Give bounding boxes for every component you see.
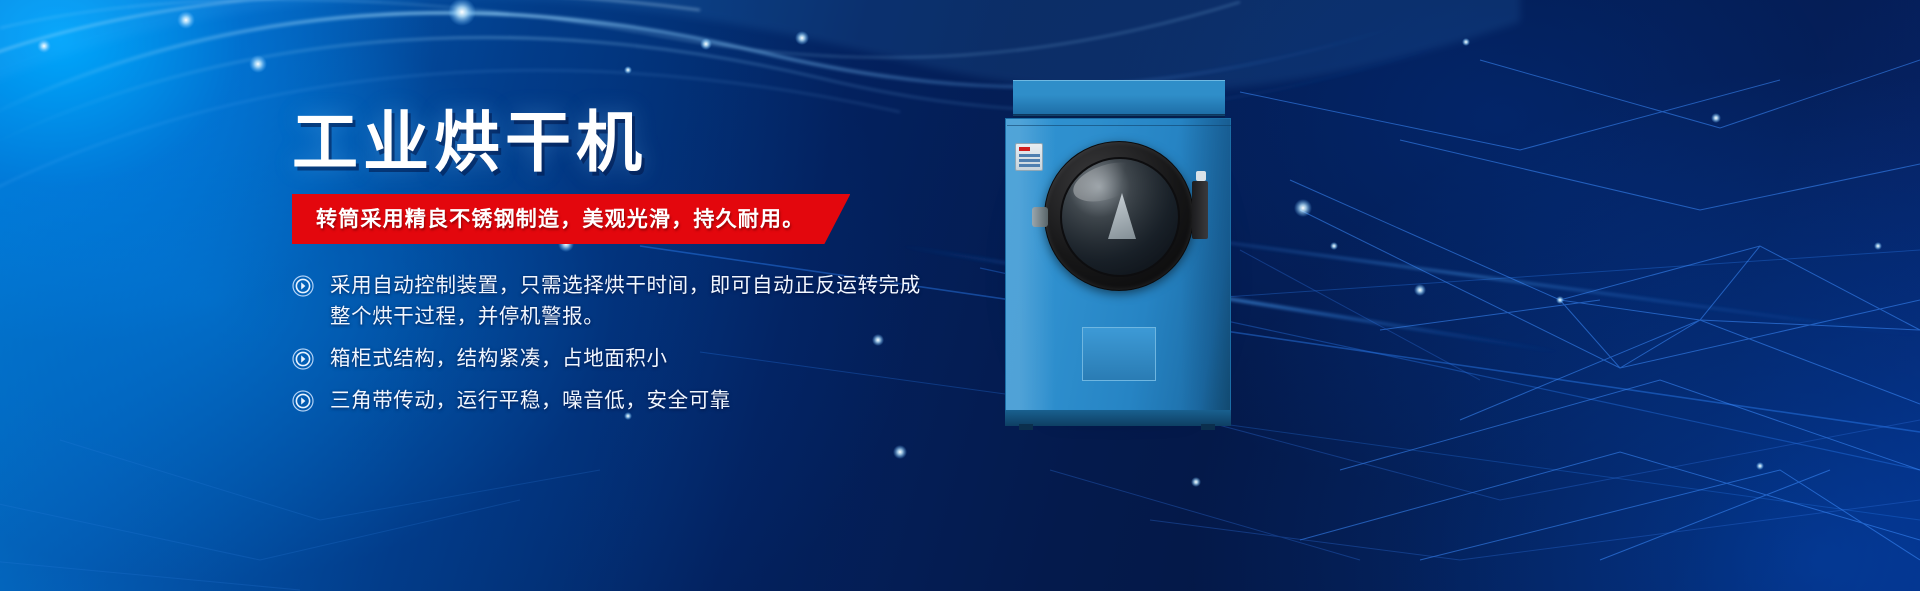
circled-chevron-right-icon — [292, 275, 314, 297]
circled-chevron-right-icon — [292, 348, 314, 370]
list-item: 采用自动控制装置，只需选择烘干时间，即可自动正反运转完成 整个烘干过程，并停机警… — [292, 270, 992, 332]
feature-list: 采用自动控制装置，只需选择烘干时间，即可自动正反运转完成 整个烘干过程，并停机警… — [292, 270, 992, 416]
panel-button-row — [1019, 159, 1040, 162]
panel-indicator — [1019, 147, 1030, 151]
tagline-ribbon: 转筒采用精良不锈钢制造，美观光滑，持久耐用。 — [292, 194, 850, 244]
lint-filter-panel — [1082, 327, 1156, 381]
door-handle — [1032, 207, 1048, 227]
drum-vane — [1108, 193, 1136, 239]
banner-content: 工业烘干机 转筒采用精良不锈钢制造，美观光滑，持久耐用。 采用自动控制装置，只需… — [292, 110, 992, 427]
circled-chevron-right-icon — [292, 390, 314, 412]
machine-foot — [1201, 424, 1215, 430]
tagline-text: 转筒采用精良不锈钢制造，美观光滑，持久耐用。 — [316, 206, 804, 231]
list-item-label: 箱柜式结构，结构紧凑，占地面积小 — [330, 343, 668, 374]
list-item: 箱柜式结构，结构紧凑，占地面积小 — [292, 343, 992, 374]
hero-banner: 工业烘干机 转筒采用精良不锈钢制造，美观光滑，持久耐用。 采用自动控制装置，只需… — [0, 0, 1920, 591]
machine-top-hood — [1013, 80, 1225, 116]
panel-button-row — [1019, 154, 1040, 157]
machine-cabinet — [1005, 118, 1231, 426]
drum-door-glass — [1060, 157, 1180, 277]
list-item: 三角带传动，运行平稳，噪音低，安全可靠 — [292, 385, 992, 416]
list-item-label: 采用自动控制装置，只需选择烘干时间，即可自动正反运转完成 整个烘干过程，并停机警… — [330, 270, 921, 332]
product-image-industrial-dryer — [1005, 80, 1231, 426]
drum-door-ring — [1044, 141, 1194, 291]
page-title: 工业烘干机 — [292, 110, 992, 176]
machine-base — [1005, 410, 1231, 426]
glass-glare — [1068, 157, 1145, 209]
control-panel — [1015, 143, 1043, 171]
machine-foot — [1019, 424, 1033, 430]
list-item-label: 三角带传动，运行平稳，噪音低，安全可靠 — [330, 385, 731, 416]
panel-button-row — [1019, 164, 1040, 167]
door-hinge — [1192, 181, 1208, 239]
door-latch — [1196, 171, 1206, 181]
cabinet-seam — [1007, 125, 1231, 126]
